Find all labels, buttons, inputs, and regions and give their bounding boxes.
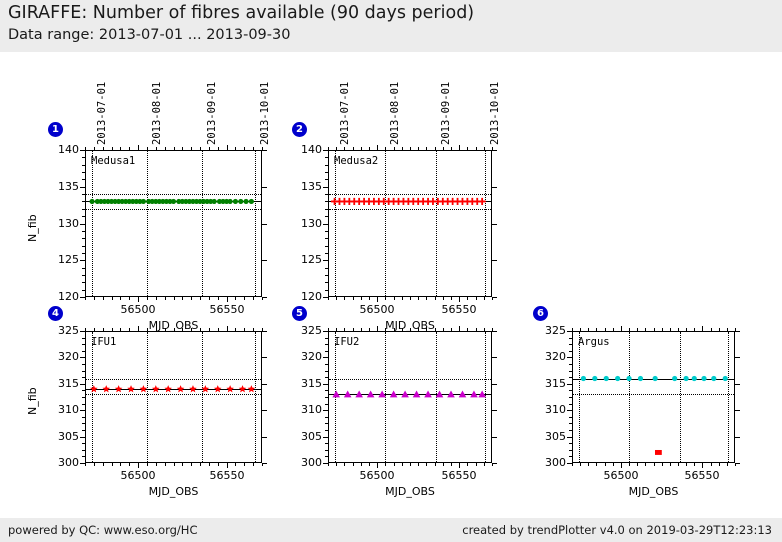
- data-point: [723, 376, 728, 381]
- data-markers-argus: [0, 52, 782, 518]
- page-footer: powered by QC: www.eso.org/HC created by…: [0, 518, 782, 542]
- data-point: [626, 376, 631, 381]
- footer-generator: created by trendPlotter v4.0 on 2019-03-…: [462, 523, 772, 537]
- page-header: GIRAFFE: Number of fibres available (90 …: [0, 0, 782, 52]
- plot-grid: 12013-07-012013-08-012013-09-012013-10-0…: [0, 52, 782, 518]
- page-title: GIRAFFE: Number of fibres available (90 …: [8, 3, 474, 23]
- data-point: [604, 376, 609, 381]
- data-point: [684, 376, 689, 381]
- data-point: [672, 376, 677, 381]
- page-subtitle: Data range: 2013-07-01 ... 2013-09-30: [8, 27, 290, 43]
- data-point: [701, 376, 706, 381]
- data-point: [692, 376, 697, 381]
- data-point: [711, 376, 716, 381]
- data-point: [581, 376, 586, 381]
- data-point: [655, 450, 662, 455]
- data-point: [592, 376, 597, 381]
- footer-credit: powered by QC: www.eso.org/HC: [8, 523, 197, 537]
- data-point: [653, 376, 658, 381]
- data-point: [638, 376, 643, 381]
- data-point: [615, 376, 620, 381]
